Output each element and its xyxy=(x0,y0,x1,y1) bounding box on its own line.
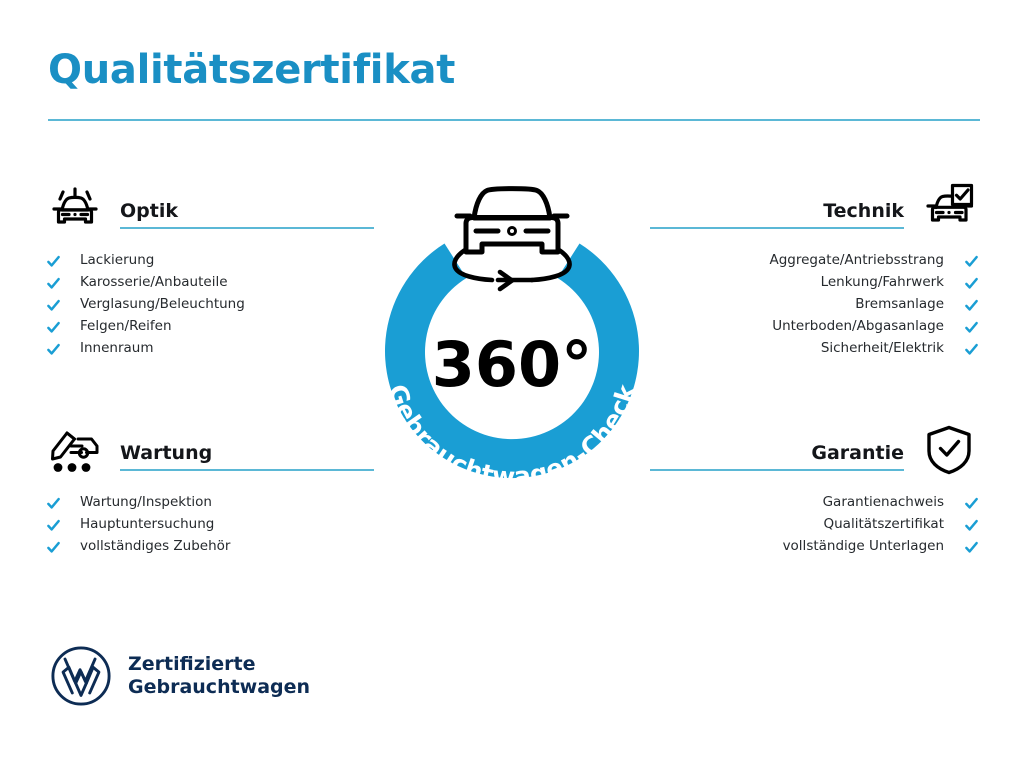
section-title-optik: Optik xyxy=(120,202,374,222)
badge-360-gebrauchtwagen-check: Gebrauchtwagen-Check 360° xyxy=(352,168,672,518)
section-header-optik: Optik xyxy=(44,176,374,238)
page-title: Qualitätszertifikat xyxy=(48,50,455,90)
list-item-label: Felgen/Reifen xyxy=(80,320,172,334)
vw-logo-icon xyxy=(50,645,112,707)
section-optik: Optik Lackierung Karosserie/Anbauteile V… xyxy=(44,176,374,360)
car-front-lights-icon xyxy=(44,176,106,238)
shield-check-icon xyxy=(918,418,980,480)
list-item-label: Qualitätszertifikat xyxy=(824,518,945,532)
vw-logo-line1: Zertifizierte xyxy=(128,653,310,676)
title-divider xyxy=(48,119,980,121)
list-item-label: Bremsanlage xyxy=(855,298,944,312)
list-item: Verglasung/Beleuchtung xyxy=(44,294,374,316)
check-icon xyxy=(44,518,62,533)
list-item-label: Unterboden/Abgasanlage xyxy=(772,320,944,334)
list-item: Sicherheit/Elektrik xyxy=(650,338,980,360)
badge-center-text: 360° xyxy=(432,328,592,401)
check-list-technik: Aggregate/Antriebsstrang Lenkung/Fahrwer… xyxy=(650,250,980,360)
check-icon xyxy=(962,254,980,269)
section-technik: Technik Aggregate/Antriebsstrang Lenkung… xyxy=(650,176,980,360)
list-item: Unterboden/Abgasanlage xyxy=(650,316,980,338)
check-icon xyxy=(962,540,980,555)
list-item: Felgen/Reifen xyxy=(44,316,374,338)
check-icon xyxy=(44,342,62,357)
car-front-rotate-icon xyxy=(454,189,569,289)
list-item-label: Wartung/Inspektion xyxy=(80,496,212,510)
check-list-optik: Lackierung Karosserie/Anbauteile Verglas… xyxy=(44,250,374,360)
list-item-label: Lenkung/Fahrwerk xyxy=(821,276,944,290)
check-icon xyxy=(44,320,62,335)
list-item-label: vollständige Unterlagen xyxy=(783,540,944,554)
check-list-garantie: Garantienachweis Qualitätszertifikat vol… xyxy=(650,492,980,558)
list-item: Hauptuntersuchung xyxy=(44,514,374,536)
list-item: vollständiges Zubehör xyxy=(44,536,374,558)
list-item: vollständige Unterlagen xyxy=(650,536,980,558)
check-list-wartung: Wartung/Inspektion Hauptuntersuchung vol… xyxy=(44,492,374,558)
section-header-garantie: Garantie xyxy=(650,418,980,480)
pen-car-service-icon xyxy=(44,418,106,480)
list-item: Wartung/Inspektion xyxy=(44,492,374,514)
section-garantie: Garantie Garantienachweis Qualitätszerti… xyxy=(650,418,980,558)
list-item: Garantienachweis xyxy=(650,492,980,514)
car-checkbox-icon xyxy=(918,176,980,238)
check-icon xyxy=(962,320,980,335)
list-item-label: Karosserie/Anbauteile xyxy=(80,276,228,290)
list-item: Lackierung xyxy=(44,250,374,272)
list-item: Innenraum xyxy=(44,338,374,360)
list-item: Qualitätszertifikat xyxy=(650,514,980,536)
section-title-wrap-technik: Technik xyxy=(650,176,918,229)
list-item-label: Hauptuntersuchung xyxy=(80,518,214,532)
check-icon xyxy=(44,540,62,555)
vw-certified-logo: Zertifizierte Gebrauchtwagen xyxy=(50,645,310,707)
section-divider-technik xyxy=(650,227,904,229)
section-title-wrap-wartung: Wartung xyxy=(106,418,374,471)
list-item-label: Sicherheit/Elektrik xyxy=(821,342,944,356)
section-divider-optik xyxy=(120,227,374,229)
check-icon xyxy=(962,518,980,533)
section-wartung: Wartung Wartung/Inspektion Hauptuntersuc… xyxy=(44,418,374,558)
section-header-technik: Technik xyxy=(650,176,980,238)
list-item-label: Aggregate/Antriebsstrang xyxy=(770,254,945,268)
section-title-wrap-optik: Optik xyxy=(106,176,374,229)
check-icon xyxy=(962,496,980,511)
section-divider-wartung xyxy=(120,469,374,471)
list-item: Bremsanlage xyxy=(650,294,980,316)
section-title-wartung: Wartung xyxy=(120,444,374,464)
section-title-wrap-garantie: Garantie xyxy=(650,418,918,471)
section-header-wartung: Wartung xyxy=(44,418,374,480)
vw-logo-text: Zertifizierte Gebrauchtwagen xyxy=(128,653,310,699)
check-icon xyxy=(962,298,980,313)
list-item-label: Verglasung/Beleuchtung xyxy=(80,298,245,312)
check-icon xyxy=(44,298,62,313)
check-icon xyxy=(962,342,980,357)
list-item: Karosserie/Anbauteile xyxy=(44,272,374,294)
list-item-label: vollständiges Zubehör xyxy=(80,540,230,554)
vw-logo-line2: Gebrauchtwagen xyxy=(128,676,310,699)
list-item: Aggregate/Antriebsstrang xyxy=(650,250,980,272)
list-item-label: Innenraum xyxy=(80,342,154,356)
list-item-label: Garantienachweis xyxy=(823,496,944,510)
check-icon xyxy=(44,496,62,511)
section-title-technik: Technik xyxy=(650,202,904,222)
section-title-garantie: Garantie xyxy=(650,444,904,464)
check-icon xyxy=(44,276,62,291)
list-item: Lenkung/Fahrwerk xyxy=(650,272,980,294)
check-icon xyxy=(962,276,980,291)
check-icon xyxy=(44,254,62,269)
list-item-label: Lackierung xyxy=(80,254,154,268)
section-divider-garantie xyxy=(650,469,904,471)
